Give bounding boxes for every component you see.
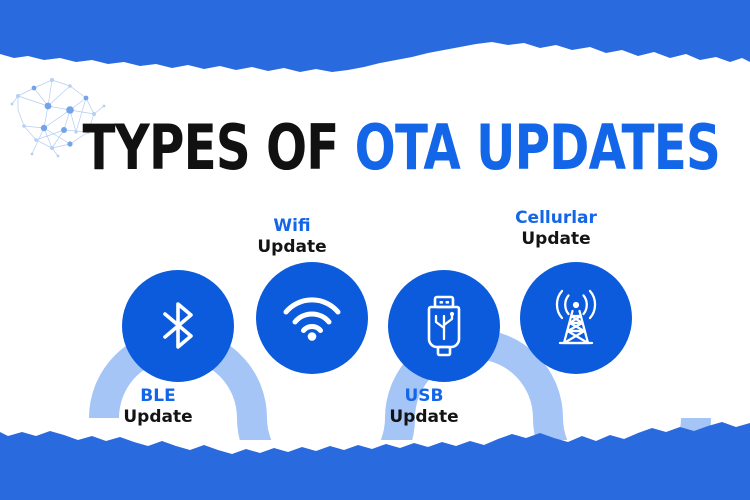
step-node-wifi[interactable] xyxy=(256,262,368,374)
step-node-ble[interactable] xyxy=(122,270,234,382)
step-sublabel-ble: Update xyxy=(68,407,248,428)
usb-drive-icon xyxy=(421,295,467,357)
step-caption-cellular: Cellurlar Update xyxy=(466,208,646,250)
step-sublabel-cellular: Update xyxy=(466,229,646,250)
page-title-blue: OTA UPDATES xyxy=(355,111,720,184)
step-caption-wifi: Wifi Update xyxy=(202,216,382,258)
step-sublabel-usb: Update xyxy=(334,407,514,428)
steps-flow: BLE Update Wifi Update xyxy=(0,200,750,440)
step-sublabel-wifi: Update xyxy=(202,237,382,258)
step-label-wifi: Wifi xyxy=(202,216,382,237)
step-node-cellular[interactable] xyxy=(520,262,632,374)
page-title-dark: TYPES OF xyxy=(83,111,355,184)
ota-updates-infographic: TYPES OF OTA UPDATES BLE Update xyxy=(0,0,750,500)
step-label-cellular: Cellurlar xyxy=(466,208,646,229)
bluetooth-icon xyxy=(151,296,205,356)
page-title: TYPES OF OTA UPDATES xyxy=(83,112,668,184)
step-label-usb: USB xyxy=(334,386,514,407)
cell-tower-icon xyxy=(545,287,607,349)
step-label-ble: BLE xyxy=(68,386,248,407)
step-node-usb[interactable] xyxy=(388,270,500,382)
wifi-icon xyxy=(281,295,343,341)
step-caption-ble: BLE Update xyxy=(68,386,248,428)
torn-paper-edge-top xyxy=(0,0,750,90)
step-caption-usb: USB Update xyxy=(334,386,514,428)
